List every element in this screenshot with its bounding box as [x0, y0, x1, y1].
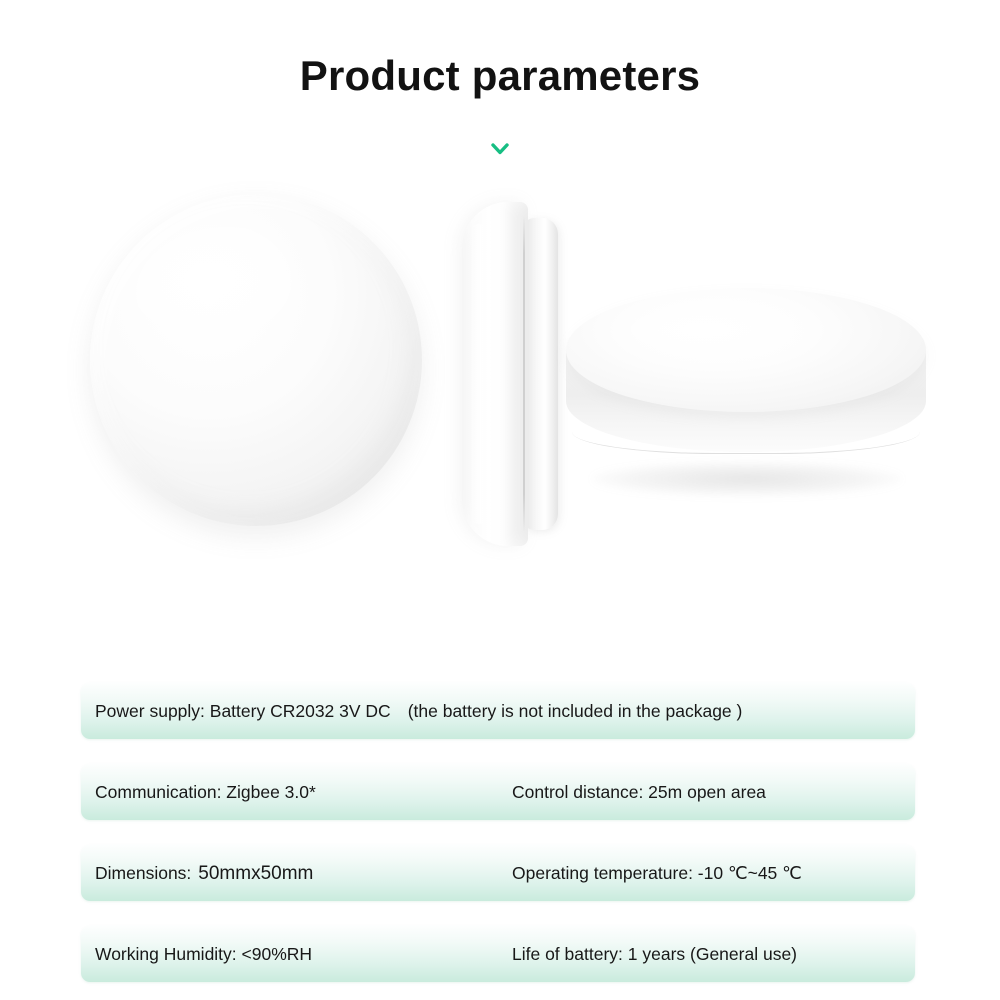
spec-cell-communication: Communication: Zigbee 3.0*	[95, 781, 316, 803]
product-drop-shadow	[592, 462, 902, 496]
spec-row-communication: Communication: Zigbee 3.0* Control dista…	[81, 764, 915, 820]
spec-label-operating-temperature: Operating temperature: -10 ℃~45 ℃	[512, 863, 802, 883]
spec-row-power-supply: Power supply: Battery CR2032 3V DC (the …	[81, 683, 915, 739]
page-title: Product parameters	[0, 48, 1000, 104]
spec-cell-working-humidity: Working Humidity: <90%RH	[95, 943, 312, 965]
spec-cell-battery-life: Life of battery: 1 years (General use)	[512, 943, 797, 965]
spec-label-working-humidity: Working Humidity: <90%RH	[95, 943, 312, 965]
product-side-view	[462, 202, 558, 546]
spec-cell-dimensions: Dimensions: 50mmx50mm	[95, 862, 313, 885]
spec-note-battery-not-included: (the battery is not included in the pack…	[408, 700, 743, 722]
product-side-seam	[523, 216, 525, 532]
spec-value-dimensions: 50mmx50mm	[198, 863, 313, 885]
product-parameters-page: Product parameters Power supply: Battery…	[0, 0, 1000, 1000]
spec-label-battery-life: Life of battery: 1 years (General use)	[512, 944, 797, 964]
specifications-table: Power supply: Battery CR2032 3V DC (the …	[81, 683, 915, 982]
product-side-base	[524, 218, 558, 530]
spec-row-working-humidity: Working Humidity: <90%RH Life of battery…	[81, 926, 915, 982]
spec-label-power-supply: Power supply: Battery CR2032 3V DC	[95, 700, 391, 722]
product-perspective-view	[566, 288, 926, 488]
product-puck-top-face	[566, 288, 926, 412]
chevron-down-icon[interactable]	[487, 136, 513, 162]
spec-label-control-distance: Control distance: 25m open area	[512, 782, 766, 802]
product-gallery	[0, 180, 1000, 600]
spec-label-dimensions: Dimensions:	[95, 862, 191, 884]
product-side-body	[462, 202, 528, 546]
spec-cell-operating-temperature: Operating temperature: -10 ℃~45 ℃	[512, 862, 802, 884]
spec-cell-power-supply: Power supply: Battery CR2032 3V DC (the …	[95, 700, 742, 722]
spec-row-dimensions: Dimensions: 50mmx50mm Operating temperat…	[81, 845, 915, 901]
chevron-down-container	[0, 136, 1000, 162]
product-puck-seam	[572, 410, 920, 454]
product-top-view	[90, 194, 422, 526]
spec-cell-control-distance: Control distance: 25m open area	[512, 781, 766, 803]
spec-label-communication: Communication: Zigbee 3.0*	[95, 781, 316, 803]
